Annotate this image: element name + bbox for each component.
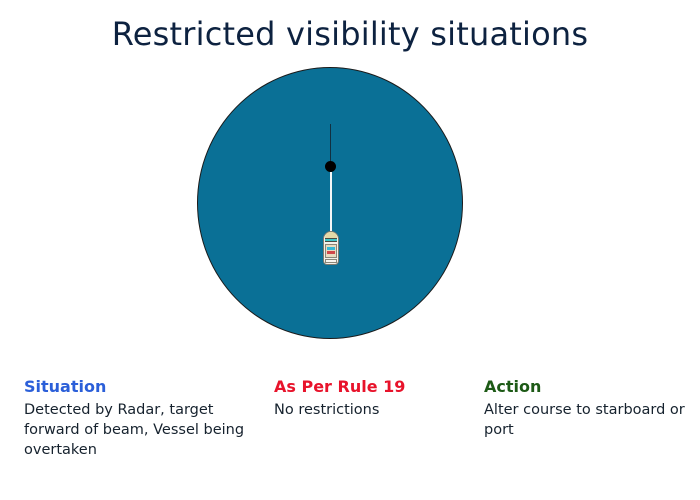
legend-body-rule: No restrictions <box>274 400 464 420</box>
legend-heading-action: Action <box>484 376 689 398</box>
bearing-line-icon <box>330 124 331 166</box>
legend-column-rule: As Per Rule 19 No restrictions <box>274 376 464 420</box>
legend-heading-situation: Situation <box>24 376 254 398</box>
legend-body-action: Alter course to starboard or port <box>484 400 689 440</box>
radar-visibility-diagram <box>0 0 700 370</box>
vessel-deck-mark-cyan <box>327 247 335 250</box>
legend-heading-rule: As Per Rule 19 <box>274 376 464 398</box>
vessel-deck-mark-red <box>327 251 335 254</box>
vessel-bridge-band <box>325 238 337 242</box>
own-vessel-icon <box>323 231 339 265</box>
track-line-icon <box>330 172 332 235</box>
legend-body-situation: Detected by Radar, target forward of bea… <box>24 400 254 460</box>
legend-column-action: Action Alter course to starboard or port <box>484 376 689 440</box>
legend: Situation Detected by Radar, target forw… <box>0 376 700 500</box>
legend-column-situation: Situation Detected by Radar, target forw… <box>24 376 254 460</box>
vessel-stern <box>325 259 337 263</box>
radar-contact-dot-icon <box>325 161 336 172</box>
